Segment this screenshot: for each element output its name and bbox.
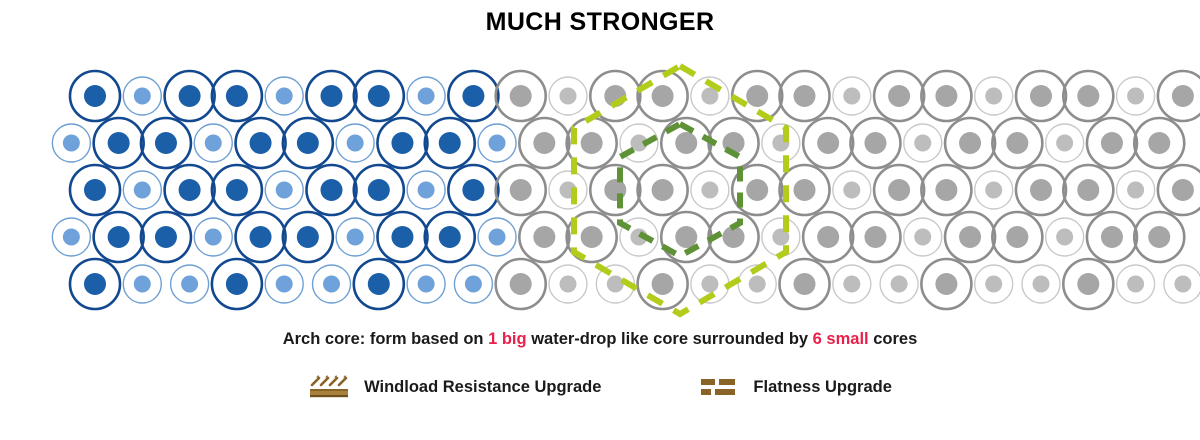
lattice-cell-big — [780, 71, 830, 121]
lattice-cell-small — [762, 124, 800, 162]
lattice-cell-small — [1046, 218, 1084, 256]
lattice-cell-big — [354, 71, 404, 121]
lattice-cell-small — [194, 218, 232, 256]
lattice-svg — [0, 50, 1200, 322]
lattice-cell-small — [123, 171, 161, 209]
lattice-cell-big — [496, 165, 546, 215]
lattice-cell-big — [236, 212, 286, 262]
poster-root: MUCH STRONGER Arch core: form based on 1… — [0, 0, 1200, 440]
lattice-cell-small — [904, 124, 942, 162]
lattice-cell-big — [1134, 212, 1184, 262]
lattice-cell-big — [1063, 165, 1113, 215]
lattice-cell-small — [407, 171, 445, 209]
legend-item-windload: Windload Resistance Upgrade — [308, 372, 601, 402]
lattice-cell-small — [407, 77, 445, 115]
lattice-cell-small — [265, 265, 303, 303]
lattice-cell-big — [992, 118, 1042, 168]
lattice-cell-big — [141, 118, 191, 168]
lattice-cell-big — [307, 165, 357, 215]
lattice-cell-big — [70, 71, 120, 121]
lattice-cell-small — [833, 265, 871, 303]
lattice-cell-big — [850, 212, 900, 262]
lattice-cell-small — [336, 218, 374, 256]
lattice-cell-small — [478, 124, 516, 162]
lattice-cell-big — [283, 118, 333, 168]
lattice-cell-small — [833, 171, 871, 209]
lattice-cell-small — [52, 124, 90, 162]
lattice-cell-big — [519, 118, 569, 168]
legend-label-flatness: Flatness Upgrade — [753, 378, 891, 397]
lattice-cell-big — [780, 259, 830, 309]
caption-highlight-1: 1 big — [488, 330, 527, 348]
lattice-cell-big — [425, 118, 475, 168]
lattice-cell-small — [171, 265, 209, 303]
lattice-cell-big — [803, 212, 853, 262]
lattice-cell-big — [1087, 118, 1137, 168]
honeycomb-lattice — [0, 50, 1200, 322]
lattice-cell-big — [212, 259, 262, 309]
lattice-cell-big — [141, 212, 191, 262]
lattice-cell-big — [377, 118, 427, 168]
cells-layer — [52, 71, 1200, 309]
lattice-cell-big — [1063, 71, 1113, 121]
lattice-cell-big — [70, 165, 120, 215]
lattice-cell-big — [1016, 165, 1066, 215]
lattice-cell-small — [313, 265, 351, 303]
lattice-cell-small — [478, 218, 516, 256]
lattice-cell-small — [549, 265, 587, 303]
lattice-cell-small — [1164, 265, 1200, 303]
lattice-cell-big — [425, 212, 475, 262]
lattice-cell-small — [1117, 77, 1155, 115]
lattice-cell-small — [975, 171, 1013, 209]
lattice-cell-small — [1046, 124, 1084, 162]
lattice-cell-big — [165, 165, 215, 215]
lattice-cell-small — [194, 124, 232, 162]
lattice-cell-big — [448, 71, 498, 121]
legend: Windload Resistance Upgrade Flatness Upg… — [0, 372, 1200, 402]
caption-part-3: cores — [869, 330, 918, 348]
lattice-cell-big — [377, 212, 427, 262]
lattice-cell-big — [590, 165, 640, 215]
lattice-cell-small — [336, 124, 374, 162]
caption: Arch core: form based on 1 big water-dro… — [0, 330, 1200, 349]
lattice-cell-small — [833, 77, 871, 115]
lattice-cell-small — [123, 77, 161, 115]
lattice-cell-big — [70, 259, 120, 309]
lattice-cell-big — [803, 118, 853, 168]
lattice-cell-small — [1022, 265, 1060, 303]
lattice-cell-big — [945, 212, 995, 262]
lattice-cell-big — [992, 212, 1042, 262]
lattice-cell-big — [496, 71, 546, 121]
lattice-cell-big — [212, 165, 262, 215]
windload-icon — [308, 372, 350, 402]
lattice-cell-big — [1158, 71, 1200, 121]
lattice-cell-small — [1117, 265, 1155, 303]
lattice-cell-big — [921, 71, 971, 121]
lattice-cell-big — [638, 71, 688, 121]
lattice-cell-big — [94, 118, 144, 168]
flatness-grid-icon — [697, 372, 739, 402]
lattice-cell-small — [762, 218, 800, 256]
lattice-cell-small — [691, 171, 729, 209]
lattice-cell-big — [307, 71, 357, 121]
lattice-cell-big — [921, 165, 971, 215]
lattice-cell-small — [265, 171, 303, 209]
lattice-cell-big — [236, 118, 286, 168]
lattice-cell-big — [354, 259, 404, 309]
caption-part-1: Arch core: form based on — [283, 330, 488, 348]
caption-highlight-2: 6 small — [813, 330, 869, 348]
lattice-cell-big — [94, 212, 144, 262]
lattice-cell-small — [975, 265, 1013, 303]
lattice-cell-big — [1016, 71, 1066, 121]
lattice-cell-big — [212, 71, 262, 121]
lattice-cell-big — [496, 259, 546, 309]
lattice-cell-big — [165, 71, 215, 121]
lattice-cell-big — [1063, 259, 1113, 309]
lattice-cell-big — [921, 259, 971, 309]
legend-label-windload: Windload Resistance Upgrade — [364, 378, 601, 397]
lattice-cell-big — [448, 165, 498, 215]
lattice-cell-small — [904, 218, 942, 256]
lattice-cell-small — [880, 265, 918, 303]
lattice-cell-small — [454, 265, 492, 303]
legend-item-flatness: Flatness Upgrade — [697, 372, 891, 402]
lattice-cell-big — [1134, 118, 1184, 168]
lattice-cell-small — [52, 218, 90, 256]
lattice-cell-big — [850, 118, 900, 168]
lattice-cell-big — [638, 165, 688, 215]
lattice-cell-big — [519, 212, 569, 262]
lattice-cell-big — [283, 212, 333, 262]
lattice-cell-big — [1158, 165, 1200, 215]
lattice-cell-big — [945, 118, 995, 168]
lattice-cell-small — [407, 265, 445, 303]
lattice-cell-big — [1087, 212, 1137, 262]
page-title: MUCH STRONGER — [0, 8, 1200, 37]
lattice-cell-small — [549, 77, 587, 115]
lattice-cell-small — [123, 265, 161, 303]
lattice-cell-small — [265, 77, 303, 115]
lattice-cell-small — [975, 77, 1013, 115]
lattice-cell-small — [1117, 171, 1155, 209]
lattice-cell-big — [874, 165, 924, 215]
lattice-cell-small — [549, 171, 587, 209]
lattice-cell-big — [354, 165, 404, 215]
caption-part-2: water-drop like core surrounded by — [527, 330, 813, 348]
lattice-cell-big — [874, 71, 924, 121]
